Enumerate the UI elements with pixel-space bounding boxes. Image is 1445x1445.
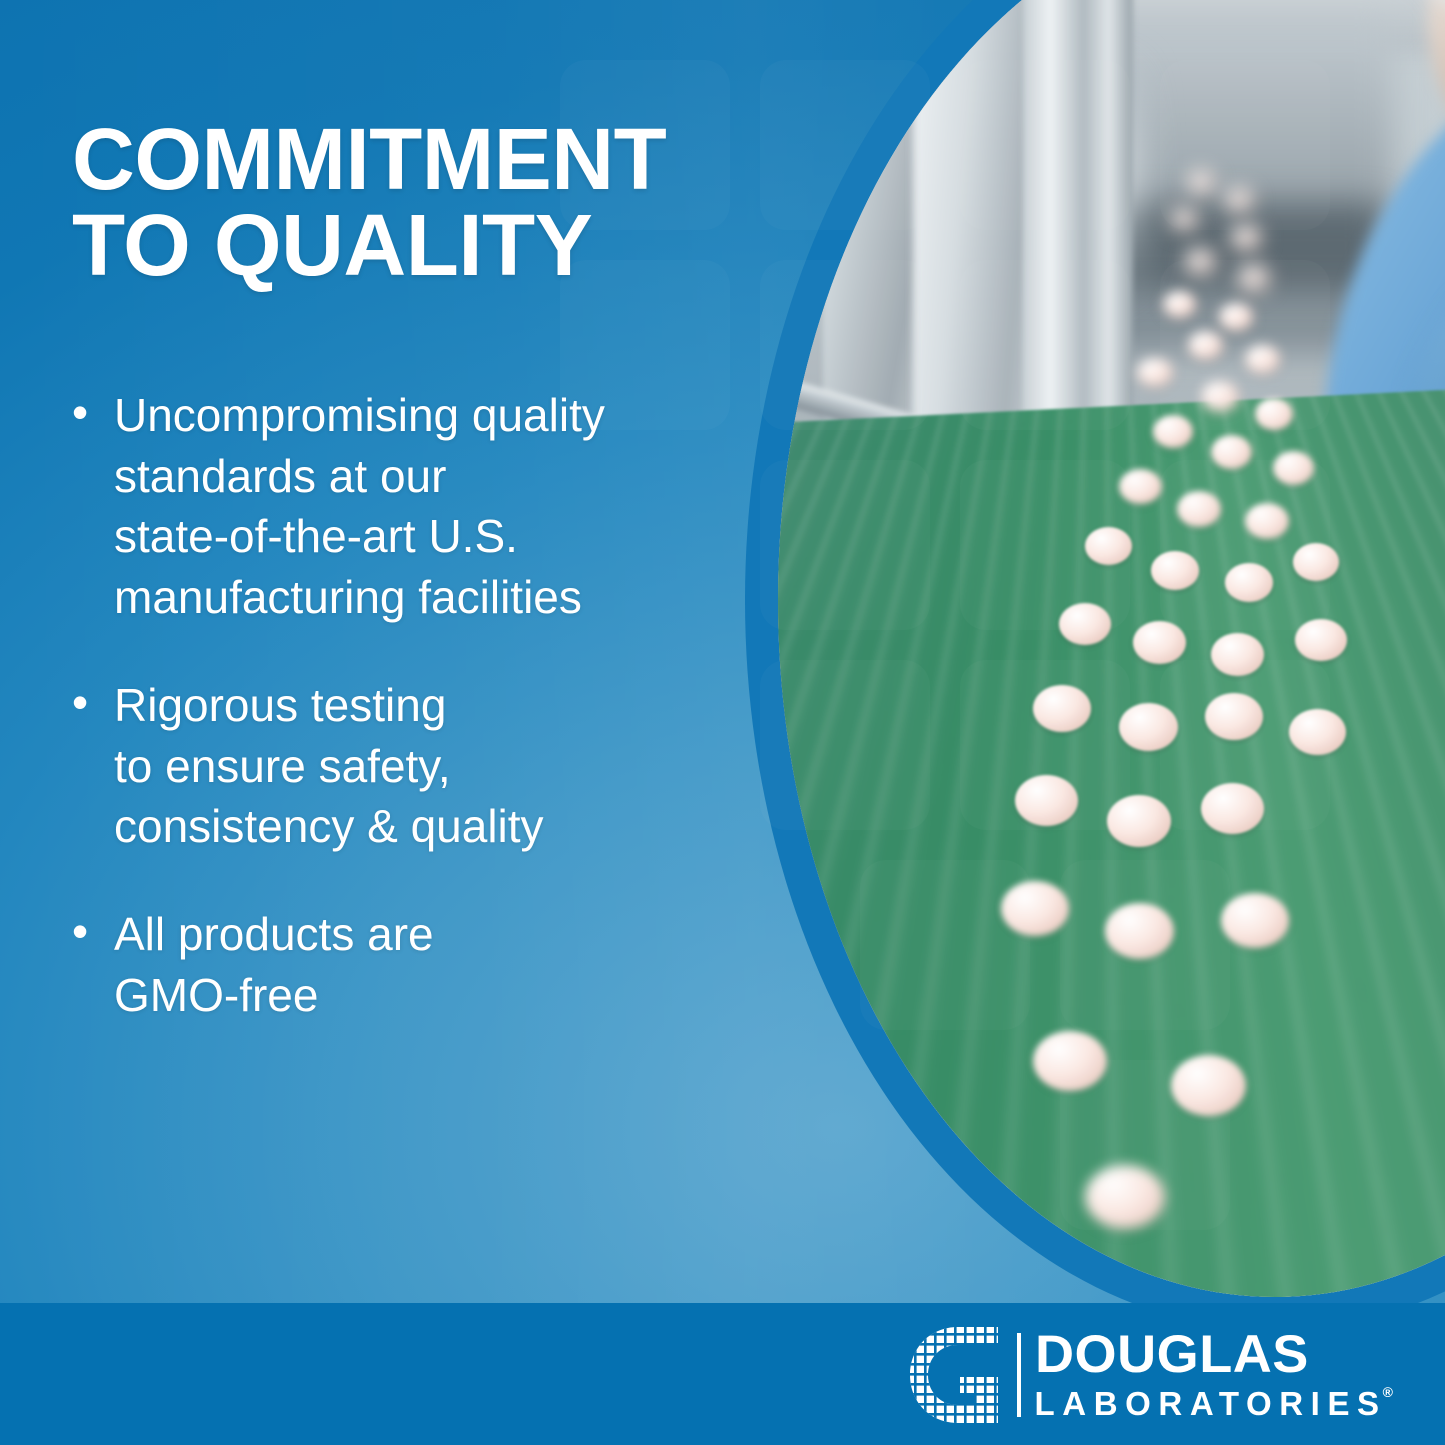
photo-ring-border [745,0,1445,1330]
tablet [1015,775,1078,826]
tablet [1171,208,1197,230]
tablet [1177,491,1221,527]
douglas-laboratories-logo: DOUGLAS LABORATORIES® [906,1317,1397,1433]
tablet [1255,398,1293,430]
photo-clip [778,0,1445,1297]
bullet-marker-icon: • [68,904,114,1025]
logo-divider [1014,1333,1021,1417]
tablet [1225,188,1253,211]
logo-secondary-label: LABORATORIES [1035,1385,1387,1422]
tablet [1225,563,1273,602]
tablet [1295,619,1347,661]
list-item: • Uncompromising quality standards at ou… [68,385,748,628]
tablet [1211,435,1252,469]
benefits-list: • Uncompromising quality standards at ou… [68,385,748,1072]
tablet [1273,451,1314,485]
list-item-label: Uncompromising quality standards at our … [114,385,748,628]
tablet [1133,621,1186,664]
tablet [1245,345,1280,374]
manufacturing-photo [778,0,1445,1297]
douglas-grid-mark-icon [906,1325,1002,1425]
tablet [1153,415,1193,448]
logo-primary-text: DOUGLAS [1035,1328,1405,1381]
tablet [1245,503,1289,539]
tablet [1238,265,1269,291]
tablet [1171,1055,1246,1116]
bullet-marker-icon: • [68,675,114,857]
tablet [1231,225,1261,250]
tablet [1119,469,1162,504]
footer-bar: DOUGLAS LABORATORIES® [0,1303,1445,1445]
bullet-marker-icon: • [68,385,114,628]
text-panel: COMMITMENT TO QUALITY • Uncompromising q… [0,0,760,1300]
tablet [1105,903,1174,959]
tablet [1293,543,1339,581]
tablet [1289,709,1346,755]
list-item: • Rigorous testing to ensure safety, con… [68,675,748,857]
tablet [1137,358,1173,387]
logo-secondary-text: LABORATORIES® [1035,1387,1397,1422]
list-item-label: Rigorous testing to ensure safety, consi… [114,675,748,857]
tablet [1201,783,1264,834]
tablet [1119,703,1178,751]
tablet [1085,1165,1165,1229]
list-item: • All products are GMO-free [68,904,748,1025]
registered-trademark-icon: ® [1383,1384,1393,1400]
tablet [1107,795,1171,847]
tablet [1151,551,1199,590]
tablet [1205,693,1263,740]
tablet [1059,603,1111,645]
tablet [1001,881,1069,936]
logo-wordmark: DOUGLAS LABORATORIES® [1035,1328,1397,1422]
tablet [1085,527,1132,565]
tablet [1033,1031,1107,1091]
tablet [1188,331,1223,360]
tablet [1201,381,1239,412]
tablet [1221,893,1289,948]
tablet [1185,249,1215,274]
list-item-label: All products are GMO-free [114,904,748,1025]
tablet [1033,685,1091,732]
tablet [1188,171,1214,193]
page-title: COMMITMENT TO QUALITY [72,117,762,289]
tablet [1211,633,1264,676]
poster-canvas: COMMITMENT TO QUALITY • Uncompromising q… [0,0,1445,1445]
tablet [1163,291,1196,318]
tablet [1219,303,1253,331]
